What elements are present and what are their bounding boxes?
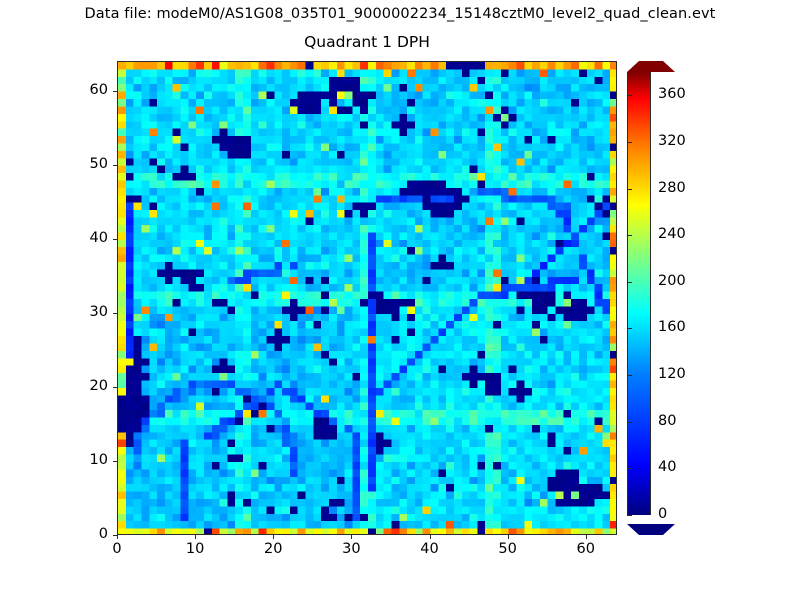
x-tick-label: 60 bbox=[564, 541, 608, 557]
colorbar-tick-mark bbox=[627, 189, 632, 190]
y-tick-label: 10 bbox=[64, 452, 108, 468]
colorbar-tick-mark bbox=[627, 95, 632, 96]
colorbar-tick-label: 240 bbox=[658, 226, 686, 242]
colorbar-tick-label: 320 bbox=[658, 133, 686, 149]
y-tick-label: 40 bbox=[64, 230, 108, 246]
x-tick-mark bbox=[273, 535, 274, 539]
colorbar-tick-label: 160 bbox=[658, 319, 686, 335]
y-tick-mark bbox=[113, 535, 117, 536]
x-tick-label: 50 bbox=[486, 541, 530, 557]
colorbar-tick-label: 360 bbox=[658, 86, 686, 102]
colorbar-tick-mark bbox=[627, 468, 632, 469]
colorbar-tick-label: 40 bbox=[658, 459, 676, 475]
colorbar-tick-mark bbox=[627, 375, 632, 376]
x-tick-label: 0 bbox=[95, 541, 139, 557]
colorbar[interactable] bbox=[627, 61, 651, 535]
colorbar-tick-mark bbox=[627, 142, 632, 143]
x-tick-mark bbox=[508, 535, 509, 539]
y-tick-label: 50 bbox=[64, 156, 108, 172]
y-tick-mark bbox=[113, 313, 117, 314]
x-tick-mark bbox=[430, 535, 431, 539]
x-tick-mark bbox=[117, 535, 118, 539]
colorbar-tick-mark bbox=[627, 328, 632, 329]
y-tick-label: 60 bbox=[64, 82, 108, 98]
x-tick-label: 10 bbox=[173, 541, 217, 557]
colorbar-extend-min-arrow-icon bbox=[627, 524, 675, 535]
y-tick-mark bbox=[113, 387, 117, 388]
x-tick-label: 40 bbox=[408, 541, 452, 557]
y-tick-mark bbox=[113, 91, 117, 92]
colorbar-extend-max-arrow-icon bbox=[627, 61, 675, 72]
y-tick-label: 20 bbox=[64, 378, 108, 394]
colorbar-tick-label: 200 bbox=[658, 273, 686, 289]
heatmap-axes bbox=[117, 61, 617, 535]
x-tick-mark bbox=[586, 535, 587, 539]
y-tick-label: 0 bbox=[64, 526, 108, 542]
figure-canvas: Data file: modeM0/AS1G08_035T01_90000022… bbox=[0, 0, 800, 600]
colorbar-tick-label: 120 bbox=[658, 366, 686, 382]
colorbar-tick-mark bbox=[627, 282, 632, 283]
x-tick-mark bbox=[195, 535, 196, 539]
y-tick-label: 30 bbox=[64, 304, 108, 320]
plot-title: Quadrant 1 DPH bbox=[117, 33, 617, 51]
colorbar-tick-label: 80 bbox=[658, 413, 676, 429]
colorbar-gradient bbox=[627, 72, 651, 515]
colorbar-tick-mark bbox=[627, 422, 632, 423]
colorbar-tick-label: 0 bbox=[658, 506, 667, 522]
x-tick-label: 20 bbox=[251, 541, 295, 557]
y-tick-mark bbox=[113, 165, 117, 166]
y-tick-mark bbox=[113, 239, 117, 240]
colorbar-tick-mark bbox=[627, 515, 632, 516]
x-tick-label: 30 bbox=[329, 541, 373, 557]
colorbar-tick-label: 280 bbox=[658, 180, 686, 196]
dph-heatmap-image bbox=[118, 62, 617, 535]
colorbar-tick-mark bbox=[627, 235, 632, 236]
data-file-suptitle: Data file: modeM0/AS1G08_035T01_90000022… bbox=[0, 6, 800, 22]
y-tick-mark bbox=[113, 461, 117, 462]
x-tick-mark bbox=[351, 535, 352, 539]
